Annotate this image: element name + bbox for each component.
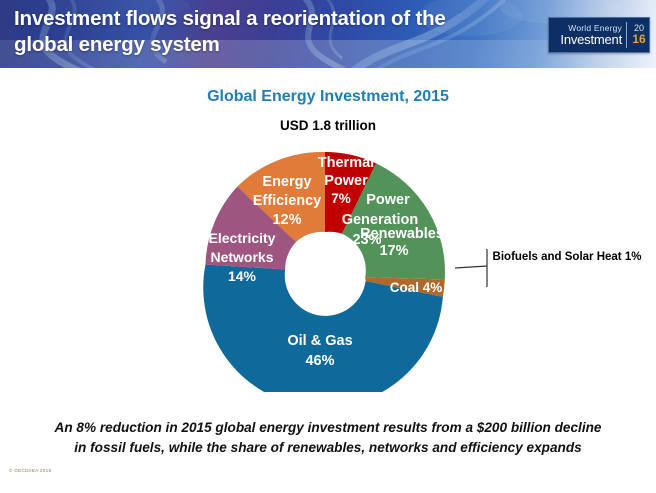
- chart-subtitle: USD 1.8 trillion: [0, 118, 656, 133]
- slide-caption: An 8% reduction in 2015 global energy in…: [14, 418, 642, 457]
- slice-label-coal: Coal 4%: [390, 280, 443, 295]
- slice-label-power-generation-line1: Power: [366, 192, 410, 208]
- logo-wordmark: World Energy Investment: [549, 18, 626, 52]
- slice-label-thermal-power-line3: 7%: [331, 191, 351, 206]
- slice-label-energy-efficiency-line2: Efficiency: [253, 193, 322, 209]
- slice-label-oil-and-gas-line2: 46%: [305, 353, 334, 369]
- slice-label-energy-efficiency-line3: 12%: [272, 212, 301, 228]
- slide-title: Investment flows signal a reorientation …: [14, 6, 534, 58]
- copyright-notice: © OECD/IEA 2016: [9, 468, 51, 473]
- slice-label-coal-line1: Coal 4%: [390, 280, 443, 295]
- slice-label-renewables-line2: 17%: [379, 243, 408, 259]
- slice-label-thermal-power-line2: Power: [324, 173, 368, 189]
- slice-label-oil-and-gas-line1: Oil & Gas: [287, 333, 352, 349]
- slice-label-electricity-networks-line1: Electricity: [209, 230, 276, 246]
- world-energy-investment-logo: World Energy Investment 20 16: [548, 17, 650, 53]
- chart-title: Global Energy Investment, 2015: [0, 88, 656, 106]
- slice-label-electricity-networks-line2: Networks: [210, 249, 273, 265]
- logo-year: 20 16: [627, 18, 649, 52]
- slice-label-electricity-networks-line3: 14%: [228, 268, 257, 284]
- slice-label-energy-efficiency-line1: Energy: [262, 174, 311, 190]
- slice-label-renewables-line1: Renewables: [360, 226, 444, 242]
- donut-chart: Thermal Power 7% Power Generation 23% Re…: [180, 140, 472, 392]
- logo-year-decade: 16: [632, 33, 645, 46]
- donut-chart-svg: Thermal Power 7% Power Generation 23% Re…: [180, 140, 472, 392]
- logo-line-investment: Investment: [560, 33, 622, 47]
- callout-biofuels-solar-heat: Biofuels and Solar Heat 1%: [492, 250, 642, 264]
- slide-header-banner: Investment flows signal a reorientation …: [0, 0, 656, 68]
- callout-leader-line: [455, 247, 495, 289]
- slice-label-thermal-power-line1: Thermal: [318, 155, 374, 171]
